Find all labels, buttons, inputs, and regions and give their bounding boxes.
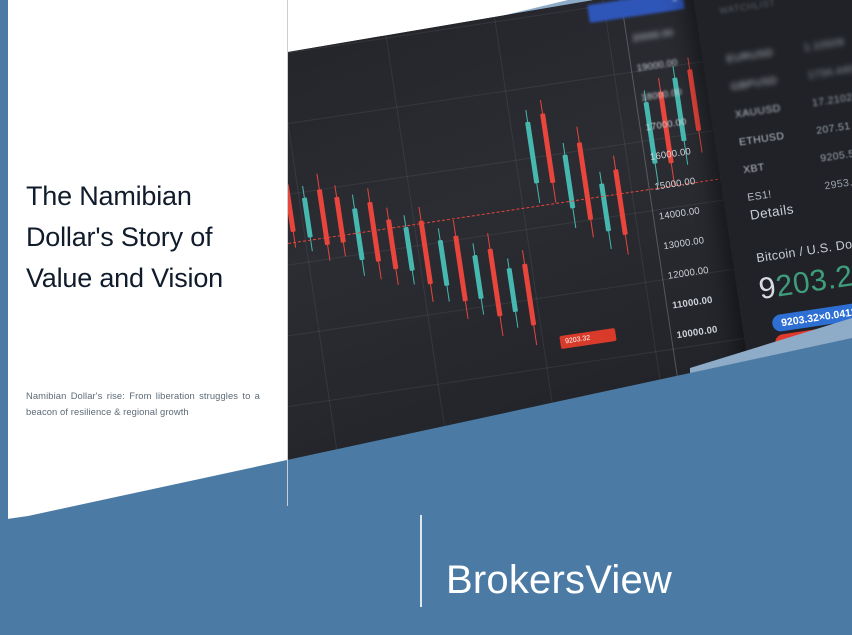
last-price-rest: 203.20 [774,257,852,304]
y-tick: 19000.00 [636,57,678,74]
y-tick: 16000.00 [649,146,691,163]
y-tick: 18000.00 [640,87,682,104]
watchlist-symbol: XBT [742,153,821,176]
watchlist-row[interactable]: EURUSD1.10509 [726,36,845,65]
y-tick: 20000.00 [632,27,674,44]
page-title: The Namibian Dollar's Story of Value and… [26,176,264,299]
watchlist-value: 17.21027 [811,90,852,109]
last-price: 9203.20 [757,257,852,307]
watchlist-row[interactable]: ETHUSD207.51 [738,120,851,148]
presentation-slide: 9203.32 21000.00 20000.00 19000.00 18000… [0,0,852,635]
brand-name: BrokersView [446,560,672,600]
brand-footer: BrokersView [420,515,672,607]
y-tick: 12000.00 [667,265,709,282]
y-tick: 15000.00 [654,176,696,193]
watchlist-symbol: ES1! [747,180,826,203]
details-heading: Details [749,201,795,222]
vertical-divider [287,0,288,506]
watchlist-symbol: EURUSD [726,42,805,65]
watchlist-value: 207.51 [815,120,851,137]
watchlist-value: 1.10509 [803,36,845,54]
watchlist-row[interactable]: XAUUSD17.21027 [734,90,852,120]
y-tick: 13000.00 [663,235,705,252]
y-tick: 14000.00 [658,206,700,223]
y-tick: 17000.00 [645,116,687,133]
brand-divider [420,515,422,607]
watchlist-row[interactable]: XBT9205.56 [742,147,852,176]
watchlist-symbol: GBPUSD [730,70,809,93]
watchlist-row[interactable]: GBPUSD1734.440 [730,63,852,93]
y-tick: 10000.00 [676,324,718,341]
watchlist-row[interactable]: ES1!2953.00 [747,174,852,203]
watchlist-value: 9205.56 [820,147,852,165]
watchlist-symbol: ETHUSD [738,125,817,148]
watchlist-symbol: XAUUSD [734,97,813,120]
watchlist-value: 2953.00 [824,174,852,192]
page-subtitle: Namibian Dollar's rise: From liberation … [26,388,260,419]
watchlist-value: 1734.440 [807,63,852,82]
y-tick: 11000.00 [672,295,714,312]
title-block: The Namibian Dollar's Story of Value and… [26,176,264,299]
close-icon[interactable]: ✕ [671,0,679,5]
watchlist-title: WATCHLIST [719,0,776,16]
